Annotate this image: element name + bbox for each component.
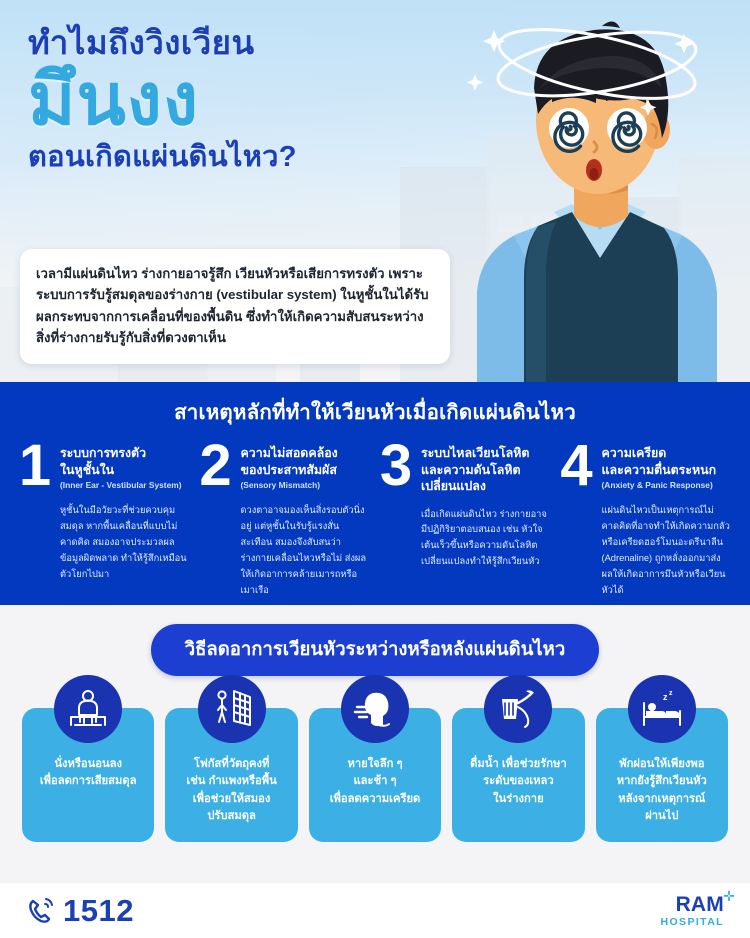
cause-description: ดวงตาอาจมองเห็นสิ่งรอบตัวนิ่งอยู่ แต่หูช…	[241, 503, 370, 599]
phone-contact[interactable]: 1512	[26, 893, 134, 929]
logo-wordmark: RAM ✛	[676, 894, 724, 915]
tips-cards: นั่งหรือนอนลงเพื่อลดการเสียสมดุล โฟกัสที…	[0, 676, 750, 842]
tip-card-4[interactable]: ดื่มน้ำ เพื่อช่วยรักษาระดับของเหลวในร่าง…	[452, 708, 584, 842]
cause-item-2: 2 ความไม่สอดคล้องของประสาทสัมผัส (Sensor…	[195, 445, 376, 599]
phone-ringing-icon	[26, 896, 56, 926]
cause-description: เมื่อเกิดแผ่นดินไหว ร่างกายอาจมีปฏิกิริย…	[421, 507, 550, 571]
tip-card-text: หายใจลึก ๆและช้า ๆเพื่อลดความเครียด	[317, 756, 433, 808]
hero-title-line2: มึนงง	[28, 64, 458, 136]
cause-subtitle: (Anxiety & Panic Response)	[602, 480, 731, 491]
cause-subtitle: (Inner Ear - Vestibular System)	[60, 480, 189, 491]
logo-main-text: RAM	[676, 893, 724, 916]
person-focus-wall-icon	[198, 675, 266, 743]
hero-title-line1: ทำไมถึงวิงเวียน	[28, 24, 458, 62]
cause-description: หูชั้นในมีอวัยวะที่ช่วยควบคุมสมดุล หากพื…	[60, 503, 189, 583]
cause-title: ความเครียดและความตื่นตระหนก	[602, 445, 731, 478]
deep-breathing-icon	[341, 675, 409, 743]
logo-plus-icon: ✛	[723, 889, 735, 903]
drinking-water-icon	[484, 675, 552, 743]
cause-title: ความไม่สอดคล้องของประสาทสัมผัส	[241, 445, 370, 478]
tip-card-text: พักผ่อนให้เพียงพอหากยังรู้สึกเวียนหัวหลั…	[604, 756, 720, 825]
cause-subtitle: (Sensory Mismatch)	[241, 480, 370, 491]
cause-title: ระบบการทรงตัวในหูชั้นใน	[60, 445, 189, 478]
logo-subtext: HOSPITAL	[660, 917, 724, 928]
tips-section: วิธีลดอาการเวียนหัวระหว่างหรือหลังแผ่นดิ…	[0, 605, 750, 883]
dizzy-man-illustration	[442, 2, 742, 382]
tip-card-text: นั่งหรือนอนลงเพื่อลดการเสียสมดุล	[30, 756, 146, 791]
cause-title: ระบบไหลเวียนโลหิตและความดันโลหิตเปลี่ยนแ…	[421, 445, 550, 495]
causes-columns: 1 ระบบการทรงตัวในหูชั้นใน (Inner Ear - V…	[0, 429, 750, 599]
footer: 1512 RAM ✛ HOSPITAL	[0, 883, 750, 938]
svg-text:z: z	[669, 690, 673, 697]
phone-number: 1512	[63, 893, 134, 929]
tip-card-1[interactable]: นั่งหรือนอนลงเพื่อลดการเสียสมดุล	[22, 708, 154, 842]
ram-hospital-logo: RAM ✛ HOSPITAL	[660, 894, 724, 928]
intro-paragraph-box: เวลามีแผ่นดินไหว ร่างกายอาจรู้สึก เวียนห…	[20, 249, 450, 364]
person-sitting-icon	[54, 675, 122, 743]
causes-heading: สาเหตุหลักที่ทำให้เวียนหัวเมื่อเกิดแผ่นด…	[0, 382, 750, 429]
tip-card-3[interactable]: หายใจลึก ๆและช้า ๆเพื่อลดความเครียด	[309, 708, 441, 842]
infographic-page: ทำไมถึงวิงเวียน มึนงง ตอนเกิดแผ่นดินไหว?…	[0, 0, 750, 938]
cause-number: 2	[195, 441, 237, 599]
hero-title-block: ทำไมถึงวิงเวียน มึนงง ตอนเกิดแผ่นดินไหว?	[28, 24, 458, 175]
cause-number: 4	[556, 441, 598, 599]
cause-number: 1	[14, 441, 56, 599]
cause-item-3: 3 ระบบไหลเวียนโลหิตและความดันโลหิตเปลี่ย…	[375, 445, 556, 599]
intro-paragraph: เวลามีแผ่นดินไหว ร่างกายอาจรู้สึก เวียนห…	[36, 263, 434, 349]
sleeping-bed-icon: z z	[628, 675, 696, 743]
tip-card-text: โฟกัสที่วัตถุคงที่เช่น กำแพงหรือพื้นเพื่…	[173, 756, 289, 825]
cause-item-4: 4 ความเครียดและความตื่นตระหนก (Anxiety &…	[556, 445, 737, 599]
cause-item-1: 1 ระบบการทรงตัวในหูชั้นใน (Inner Ear - V…	[14, 445, 195, 599]
hero-title-line3: ตอนเกิดแผ่นดินไหว?	[28, 140, 458, 175]
tip-card-2[interactable]: โฟกัสที่วัตถุคงที่เช่น กำแพงหรือพื้นเพื่…	[165, 708, 297, 842]
tips-banner: วิธีลดอาการเวียนหัวระหว่างหรือหลังแผ่นดิ…	[151, 624, 599, 676]
svg-text:z: z	[663, 692, 668, 702]
causes-section: สาเหตุหลักที่ทำให้เวียนหัวเมื่อเกิดแผ่นด…	[0, 382, 750, 605]
hero-section: ทำไมถึงวิงเวียน มึนงง ตอนเกิดแผ่นดินไหว?…	[0, 0, 750, 382]
tip-card-text: ดื่มน้ำ เพื่อช่วยรักษาระดับของเหลวในร่าง…	[460, 756, 576, 808]
cause-number: 3	[375, 441, 417, 599]
tip-card-5[interactable]: z z พักผ่อนให้เพียงพอหากยังรู้สึกเวียนหั…	[596, 708, 728, 842]
cause-description: แผ่นดินไหวเป็นเหตุการณ์ไม่คาดคิดที่อาจทำ…	[602, 503, 731, 599]
